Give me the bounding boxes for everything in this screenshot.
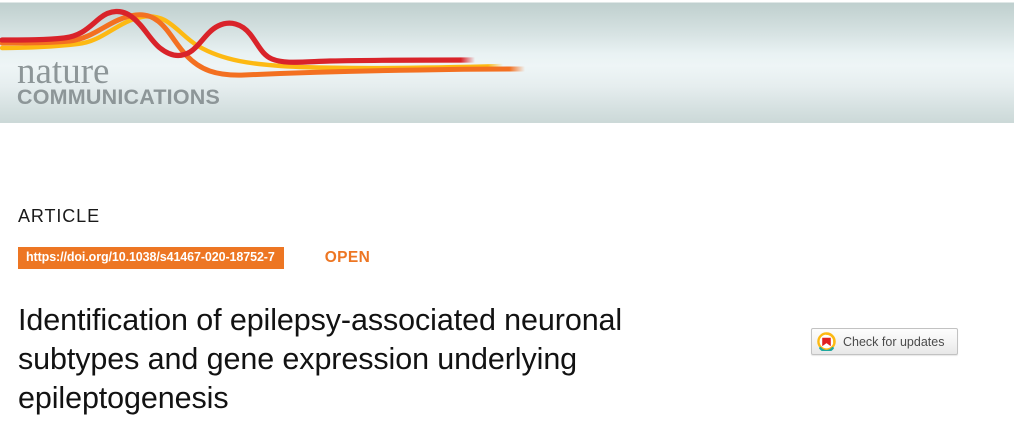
check-for-updates-label: Check for updates xyxy=(843,335,944,349)
crossmark-icon xyxy=(817,332,836,351)
doi-badge[interactable]: https://doi.org/10.1038/s41467-020-18752… xyxy=(18,247,284,269)
journal-logo-nature: nature xyxy=(17,55,317,89)
journal-masthead: nature COMMUNICATIONS xyxy=(0,0,1014,123)
journal-logo-communications: COMMUNICATIONS xyxy=(17,86,317,108)
article-header: ARTICLE https://doi.org/10.1038/s41467-0… xyxy=(0,123,1014,436)
check-for-updates-button[interactable]: Check for updates xyxy=(811,328,958,355)
page-title: Identification of epilepsy-associated ne… xyxy=(18,301,658,418)
doi-row: https://doi.org/10.1038/s41467-020-18752… xyxy=(18,247,370,269)
article-type-label: ARTICLE xyxy=(18,206,100,227)
open-access-label: OPEN xyxy=(325,249,371,267)
journal-logo[interactable]: nature COMMUNICATIONS xyxy=(17,55,317,108)
